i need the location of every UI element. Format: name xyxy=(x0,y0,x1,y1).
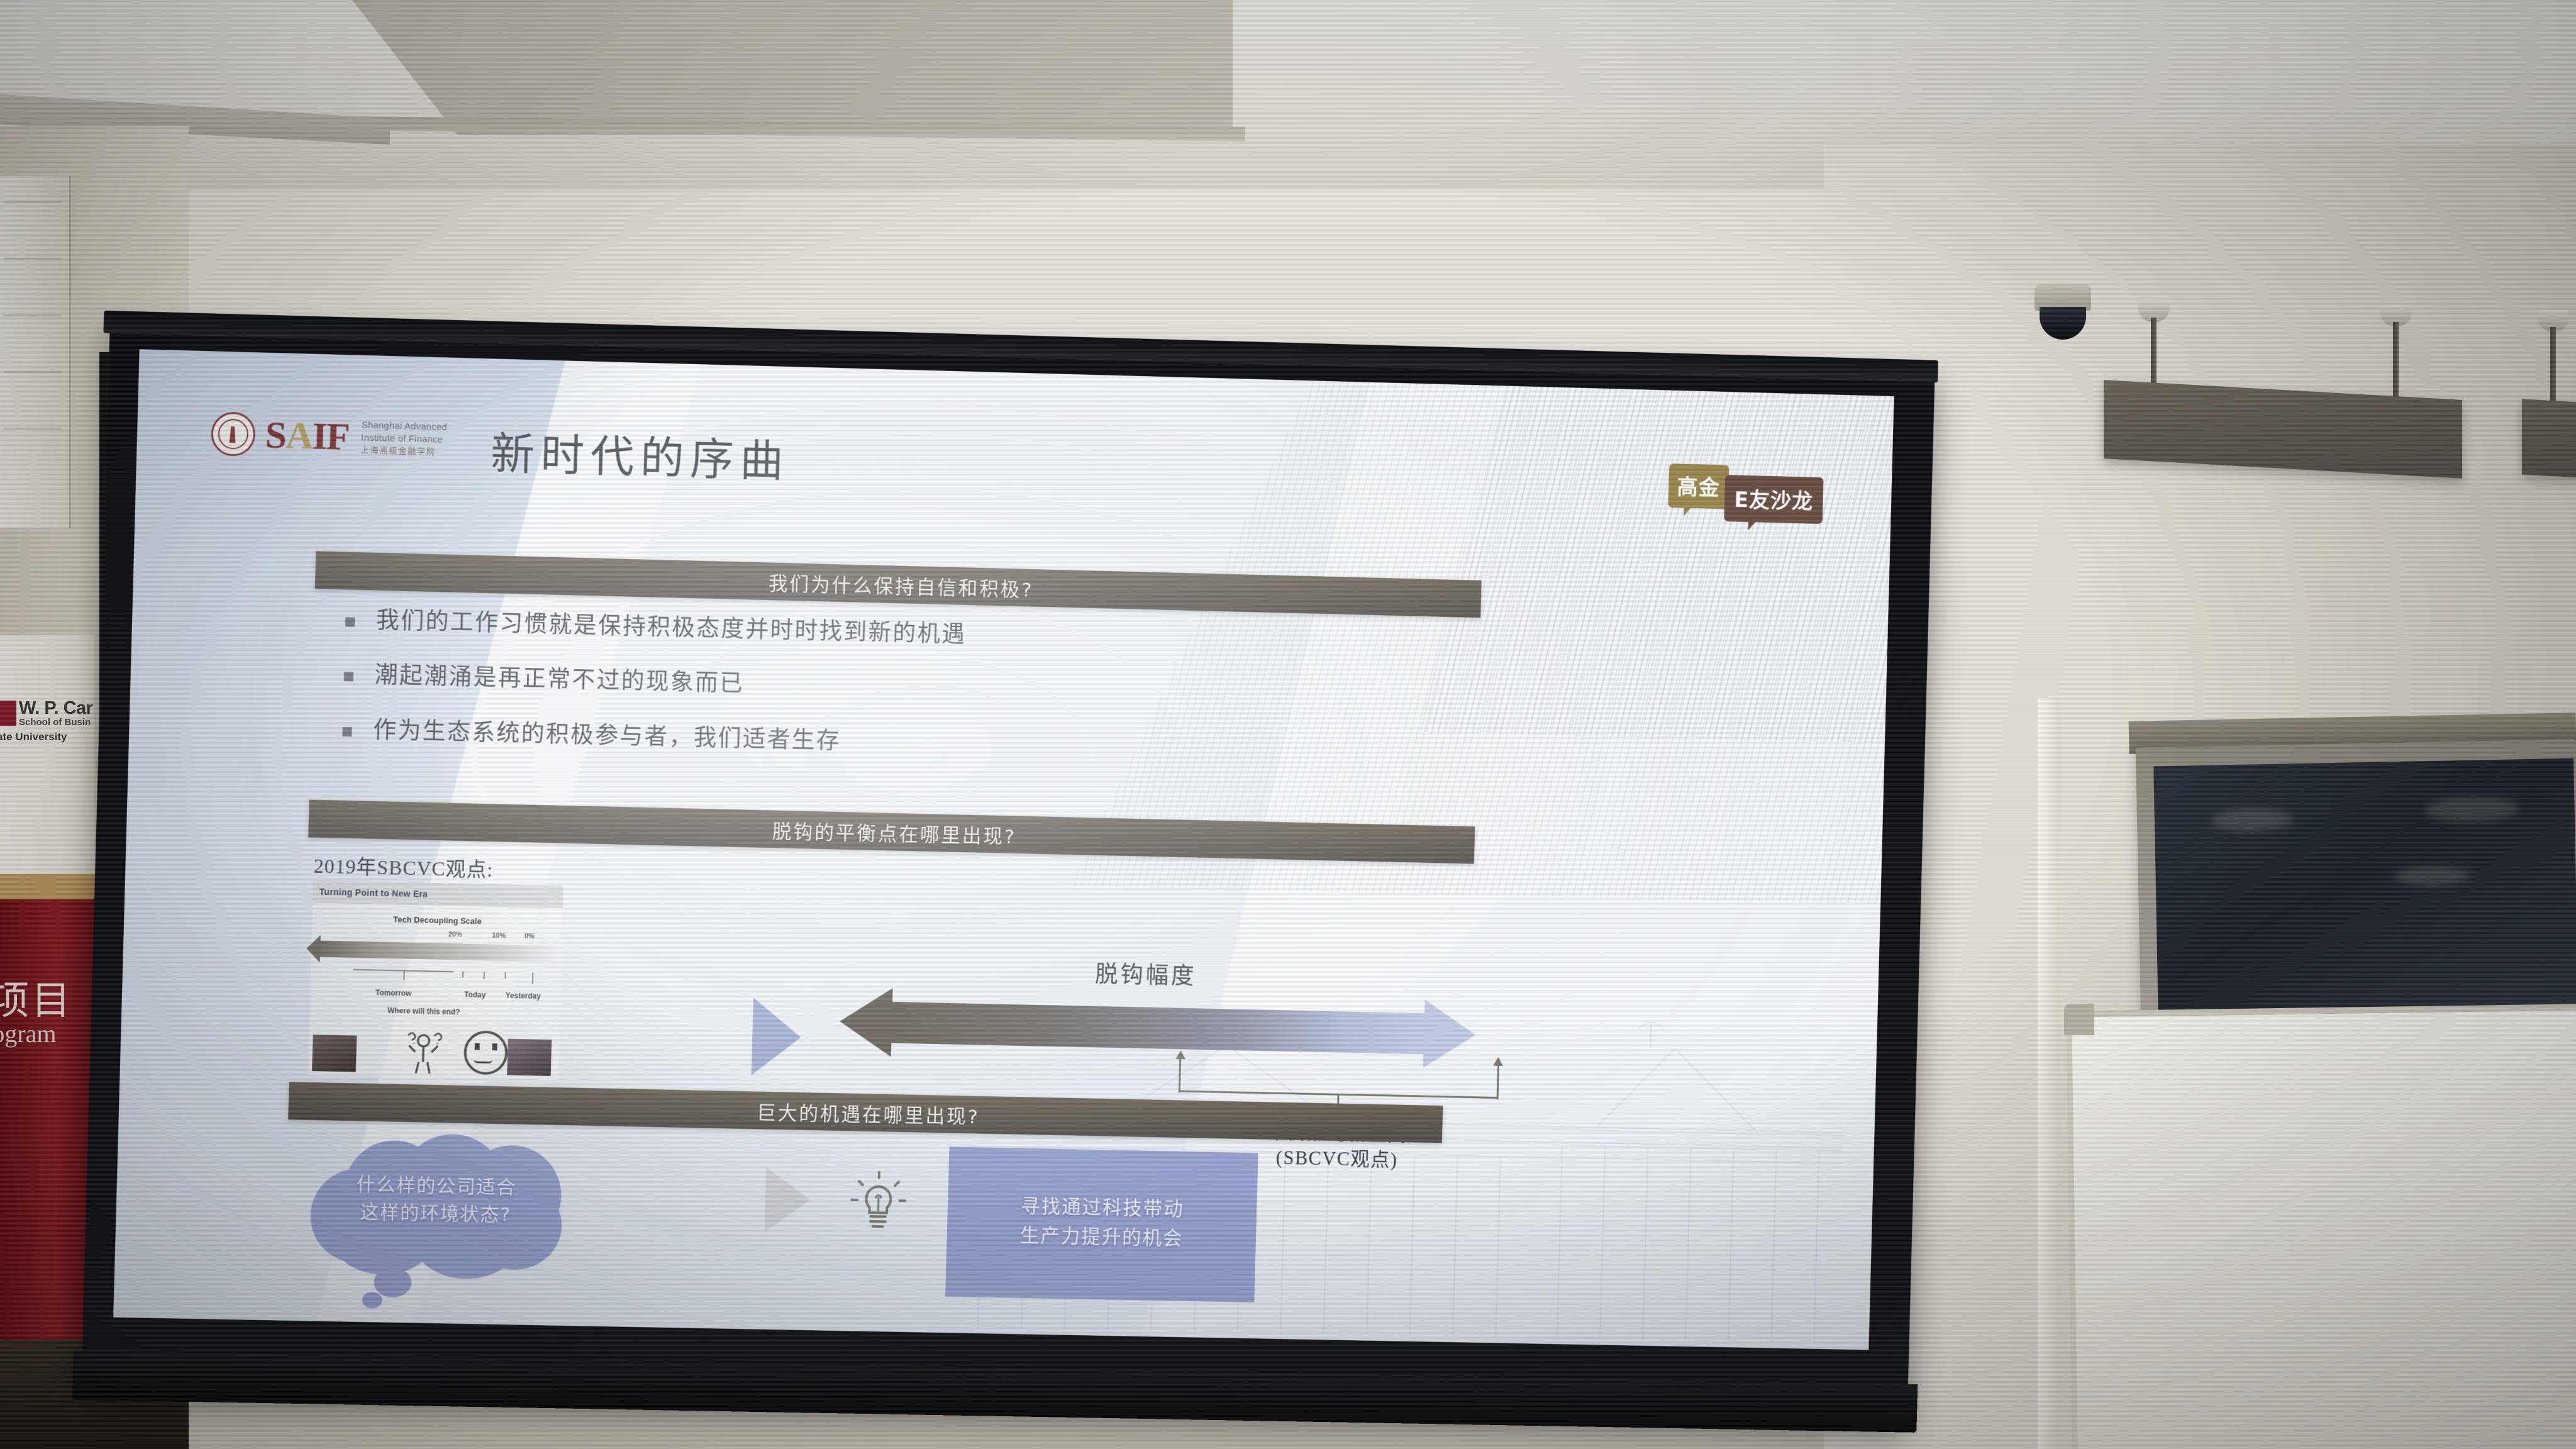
projection-screen: SAIF Shanghai Advanced Institute of Fina… xyxy=(81,319,1935,1421)
opportunity-box-text: 寻找通过科技带动 生产力提升的机会 xyxy=(947,1191,1257,1255)
saif-letter-s: S xyxy=(265,414,286,457)
arrow-head-right xyxy=(1423,999,1477,1069)
asu-mark-icon xyxy=(0,701,16,726)
mini-label-tomorrow: Tomorrow xyxy=(375,988,412,997)
arrow-head-left xyxy=(839,987,893,1057)
brand-tag-brown: E友沙龙 xyxy=(1724,475,1824,524)
arrow-body xyxy=(890,1002,1426,1054)
thought-cloud-text: 什么样的公司适合 这样的环境状态? xyxy=(304,1170,568,1230)
saif-letter-a: A xyxy=(285,414,313,457)
saif-wordmark: SAIF xyxy=(265,416,349,457)
mini-gradient-arrow xyxy=(319,941,555,962)
wp-carey-line2: School of Busin xyxy=(19,717,91,728)
saif-letter-f: F xyxy=(326,415,350,458)
ceiling-speaker-panel-right xyxy=(2522,399,2576,481)
saif-sub-en2: Institute of Finance xyxy=(361,433,447,447)
bullet-text: 作为生态系统的积极参与者，我们适者生存 xyxy=(373,716,841,755)
red-banner-en-text: rogram xyxy=(0,1019,57,1048)
mini-label-today: Today xyxy=(464,990,486,999)
mini-slide-title: Turning Point to New Era xyxy=(313,887,428,899)
partition-corner xyxy=(2064,1004,2094,1035)
mini-question-text: Where will this end? xyxy=(386,1006,462,1017)
saif-subtitle: Shanghai Advanced Institute of Finance 上… xyxy=(361,419,448,457)
bullet-item: 潮起潮涌是再正常不过的现象而已 xyxy=(343,661,1460,716)
mini-slide-title-bar: Turning Point to New Era xyxy=(313,880,563,909)
dome-security-camera-icon xyxy=(2035,284,2091,342)
wp-carey-banner xyxy=(0,635,94,899)
bullet-list: 我们的工作习惯就是保持积极态度并时时找到新的机遇 潮起潮涌是再正常不过的现象而已… xyxy=(341,606,1462,796)
bullet-square-icon xyxy=(345,617,355,626)
confused-person-icon xyxy=(396,1025,451,1075)
brand-tag-gold: 高金 xyxy=(1668,464,1729,509)
conference-room-photo: W. P. Car School of Busin State Universi… xyxy=(0,0,2576,1449)
section-header-3-label: 巨大的机遇在哪里出现? xyxy=(757,1096,980,1129)
brand-tag: 高金 E友沙龙 xyxy=(1668,464,1824,524)
saif-seal-icon xyxy=(211,411,256,457)
bullet-square-icon xyxy=(344,672,353,682)
play-triangle-icon xyxy=(765,1167,811,1233)
wall-monitor-screen xyxy=(2153,758,2576,1019)
saif-letter-i: I xyxy=(312,415,327,458)
slide-title: 新时代的序曲 xyxy=(490,419,791,490)
ceiling-soffit xyxy=(352,0,1233,135)
bullet-square-icon xyxy=(342,727,352,736)
lightbulb-icon xyxy=(848,1170,909,1237)
speaker-mount-rod xyxy=(2550,327,2556,402)
mini-scale-label: Tech Decoupling Scale xyxy=(312,913,562,928)
red-banner-cn-text: 项目 xyxy=(0,969,73,1025)
neutral-face-icon xyxy=(464,1030,508,1075)
wp-carey-line3: State University xyxy=(0,731,67,743)
section-header-2-label: 脱钩的平衡点在哪里出现? xyxy=(772,815,1017,849)
mini-label-yesterday: Yesterday xyxy=(505,991,541,1001)
mini-photo-left xyxy=(312,1035,357,1072)
bullet-item: 作为生态系统的积极参与者，我们适者生存 xyxy=(342,716,1459,770)
mini-pct-10: 10% xyxy=(492,932,506,940)
door-frame xyxy=(2038,698,2059,1449)
saif-sub-cn: 上海高级金融学院 xyxy=(361,445,447,457)
mini-pct-20: 20% xyxy=(448,931,462,938)
white-partition-board xyxy=(2066,1004,2576,1449)
saif-logo: SAIF Shanghai Advanced Institute of Fina… xyxy=(211,411,447,462)
cloud-line-2: 这样的环境状态? xyxy=(304,1197,567,1230)
mini-slide-thumbnail: Turning Point to New Era Tech Decoupling… xyxy=(308,880,563,1080)
mini-photo-right xyxy=(507,1039,552,1076)
mini-pct-0: 0% xyxy=(525,933,535,940)
mini-slide-caption: 2019年SBCVC观点: xyxy=(313,850,493,883)
saif-sub-en1: Shanghai Advanced xyxy=(362,419,448,433)
presentation-slide: SAIF Shanghai Advanced Institute of Fina… xyxy=(113,349,1894,1350)
left-banner-upper xyxy=(0,176,71,528)
section-header-1-label: 我们为什么保持自信和积极? xyxy=(768,567,1034,602)
arrow-caption: 脱钩幅度 xyxy=(1095,955,1197,991)
side-triangle-accent xyxy=(752,997,802,1076)
box-line-2: 生产力提升的机会 xyxy=(947,1219,1256,1255)
wp-carey-line1: W. P. Car xyxy=(19,698,92,719)
speaker-mount-rod xyxy=(2393,322,2399,397)
wp-carey-logo: W. P. Car School of Busin State Universi… xyxy=(0,698,88,731)
speaker-mount-rod xyxy=(2151,318,2157,393)
bullet-text: 潮起潮涌是再正常不过的现象而已 xyxy=(374,662,745,698)
